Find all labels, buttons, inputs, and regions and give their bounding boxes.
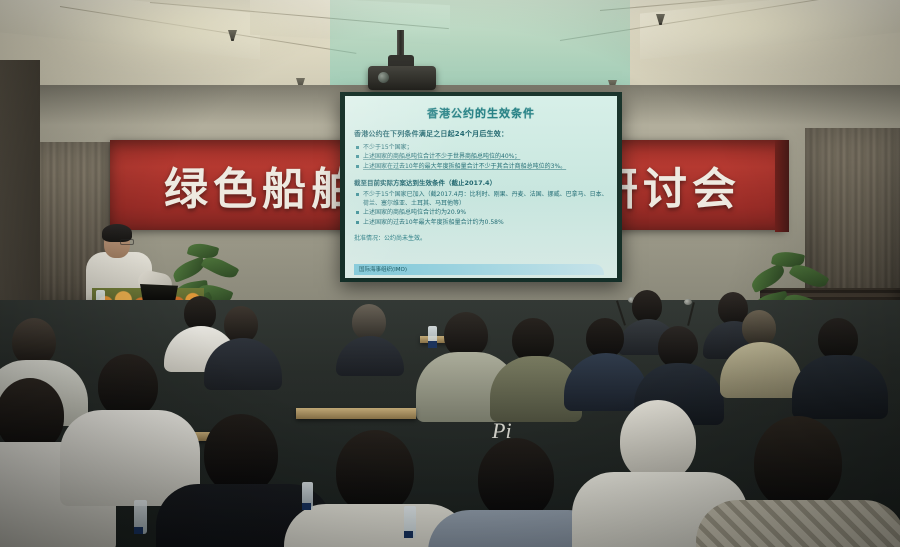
water-bottle: [428, 326, 437, 348]
list-item: 上述国家的商船总吨位合计不少于世界商船总吨位的40%；: [354, 152, 608, 161]
projection-screen: 香港公约的生效条件 香港公约在下列条件满足之日起24个月后生效： 不少于15个国…: [345, 96, 617, 278]
water-bottle: [134, 500, 147, 534]
water-bottle: [404, 506, 416, 538]
glasses-icon: [120, 239, 134, 245]
list-item: 上述国家在过去10年的最大年度拆船量合计不少于其合计商船总吨位的3%。: [354, 162, 608, 171]
seminar-photo: 绿色船舶杣 ）研讨会 香港公约的生效条件 香港公约在下列条件满足之日起24个月后…: [0, 0, 900, 547]
list-item: 上述国家的商船总吨位合计约为20.9%: [354, 208, 608, 217]
slide-bar-label: 国际海事组织(IMO): [354, 264, 604, 273]
slide-bullet-list-two: 不少于15个国家已加入（截2017.4月：比利时、刚果、丹麦、法国、挪威、巴拿马…: [354, 190, 608, 227]
slide-section-two-title: 截至目前实际方案达到生效条件（截止2017.4）: [354, 177, 608, 187]
projector-lens-icon: [378, 72, 389, 83]
wall-pillar: [0, 60, 40, 340]
list-item: 不少于15个国家已加入（截2017.4月：比利时、刚果、丹麦、法国、挪威、巴拿马…: [354, 190, 608, 209]
list-item: 上述国家的过去10年最大年度拆船量合计约为0.58%: [354, 218, 608, 227]
slide-title: 香港公约的生效条件: [354, 105, 608, 121]
list-item: 不少于15个国家；: [354, 143, 608, 152]
microphone-head-icon: [684, 299, 692, 305]
water-bottle: [302, 482, 313, 510]
slide-bullet-list: 不少于15个国家； 上述国家的商船总吨位合计不少于世界商船总吨位的40%； 上述…: [354, 143, 608, 171]
banner-fold: [775, 140, 789, 232]
desk-row: [296, 408, 416, 419]
slide-footer-note: 批准情况：公约尚未生效。: [354, 233, 608, 242]
slide-lead-text: 香港公约在下列条件满足之日起24个月后生效：: [354, 129, 608, 139]
slide-bottom-bar: 国际海事组织(IMO): [354, 264, 604, 275]
